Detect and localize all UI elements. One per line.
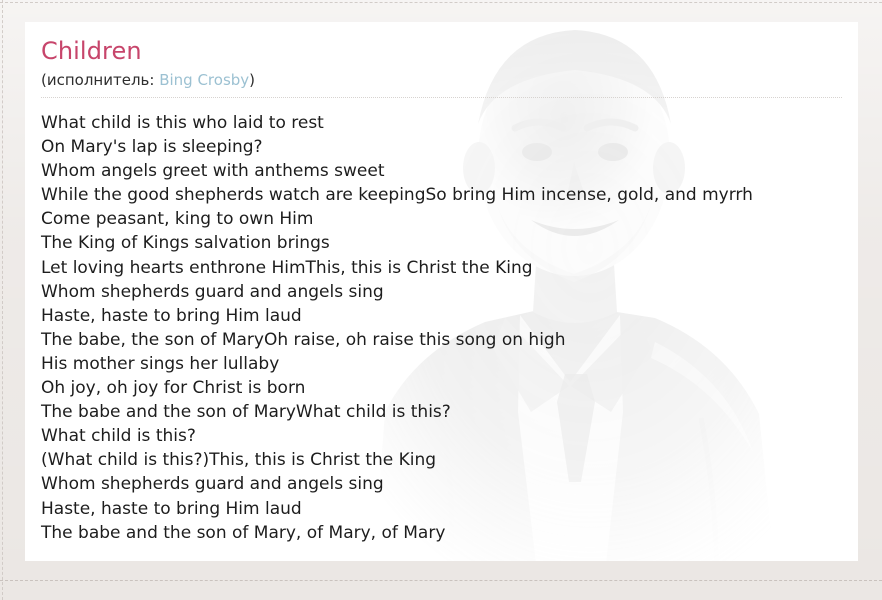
artist-credit-prefix: (исполнитель:	[41, 71, 159, 89]
lyrics-line: The babe, the son of MaryOh raise, oh ra…	[41, 328, 842, 352]
artist-credit-suffix: )	[249, 71, 255, 89]
page-bottom-dashed-guide	[0, 580, 882, 581]
lyrics-line: While the good shepherds watch are keepi…	[41, 183, 842, 207]
lyrics-line: The babe and the son of Mary, of Mary, o…	[41, 521, 842, 545]
lyrics-line: Oh joy, oh joy for Christ is born	[41, 376, 842, 400]
lyrics-line: Let loving hearts enthrone HimThis, this…	[41, 256, 842, 280]
lyrics-line: Whom shepherds guard and angels sing	[41, 280, 842, 304]
lyrics-line: What child is this who laid to rest	[41, 111, 842, 135]
lyrics-line: Come peasant, king to own Him	[41, 207, 842, 231]
lyrics-line: His mother sings her lullaby	[41, 352, 842, 376]
lyrics-line: (What child is this?)This, this is Chris…	[41, 448, 842, 472]
lyrics-line: Haste, haste to bring Him laud	[41, 497, 842, 521]
lyrics-line: Whom angels greet with anthems sweet	[41, 159, 842, 183]
page-top-dashed-guide	[0, 2, 882, 3]
lyrics-line: On Mary's lap is sleeping?	[41, 135, 842, 159]
lyrics-line: Whom shepherds guard and angels sing	[41, 472, 842, 496]
page-left-dashed-guide	[2, 0, 3, 600]
lyrics-line: The babe and the son of MaryWhat child i…	[41, 400, 842, 424]
card-content: Children (исполнитель: Bing Crosby) What…	[25, 22, 858, 545]
lyrics-line: Haste, haste to bring Him laud	[41, 304, 842, 328]
lyrics-body: What child is this who laid to rest On M…	[41, 111, 842, 545]
page-background: Children (исполнитель: Bing Crosby) What…	[0, 0, 882, 600]
song-title: Children	[41, 36, 842, 66]
lyrics-card: Children (исполнитель: Bing Crosby) What…	[25, 22, 858, 561]
artist-link[interactable]: Bing Crosby	[159, 71, 249, 89]
lyrics-line: The King of Kings salvation brings	[41, 231, 842, 255]
artist-credit-line: (исполнитель: Bing Crosby)	[41, 70, 842, 98]
lyrics-line: What child is this?	[41, 424, 842, 448]
